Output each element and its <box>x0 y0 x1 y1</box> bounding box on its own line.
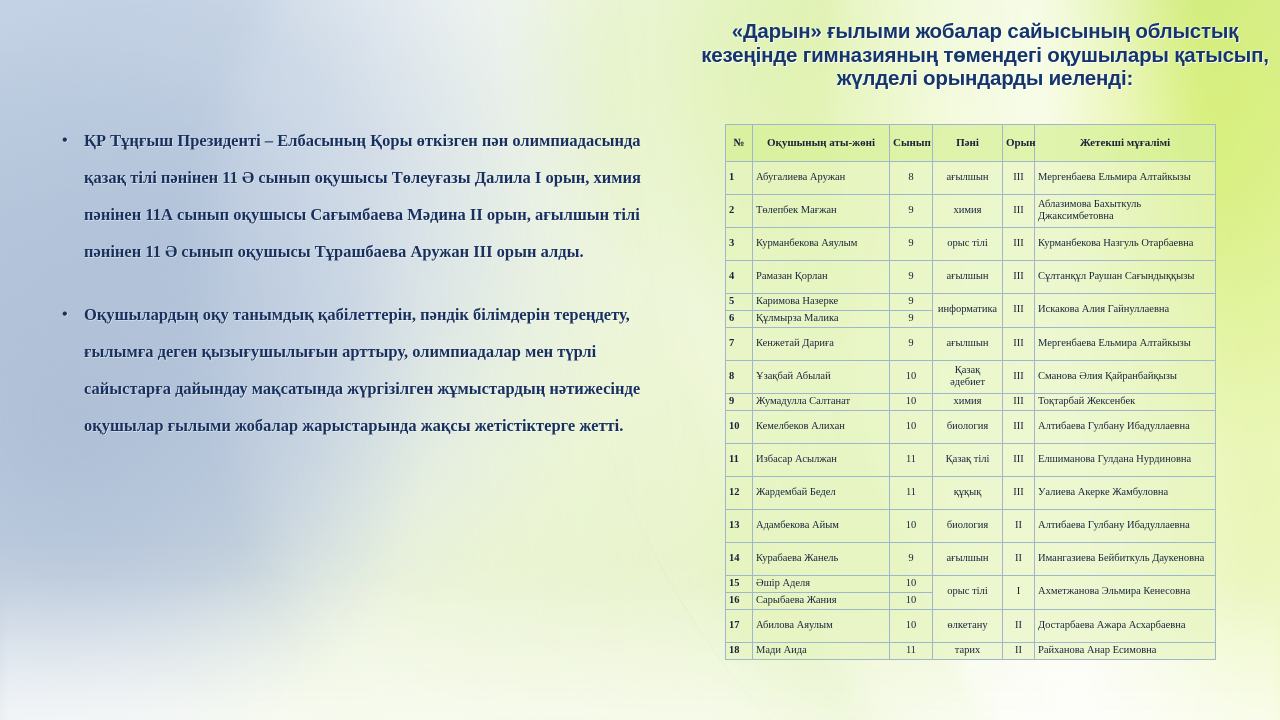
cell-student: Төлепбек Мағжан <box>753 195 890 228</box>
cell-subject: биология <box>933 411 1003 444</box>
cell-number: 3 <box>726 228 753 261</box>
bullet-text: Оқушылардың оқу танымдық қабілеттерін, п… <box>84 296 642 444</box>
cell-subject: Қазақ әдебиет <box>933 361 1003 394</box>
cell-teacher: Сманова Әлия Қайранбайқызы <box>1035 361 1216 394</box>
table-row: 15 Әшір Аделя 10 орыс тілі I Ахметжанова… <box>726 576 1216 593</box>
header-class: Сынып <box>890 125 933 162</box>
cell-teacher: Тоқтарбай Жексенбек <box>1035 394 1216 411</box>
cell-place: III <box>1003 261 1035 294</box>
cell-class: 9 <box>890 195 933 228</box>
cell-subject: құқық <box>933 477 1003 510</box>
bullet-item: • ҚР Тұңғыш Президенті – Елбасының Қоры … <box>62 122 642 270</box>
cell-teacher: Мергенбаева Ельмира Алтайкызы <box>1035 328 1216 361</box>
cell-subject: өлкетану <box>933 610 1003 643</box>
cell-subject: ағылшын <box>933 328 1003 361</box>
cell-place: III <box>1003 328 1035 361</box>
cell-class: 11 <box>890 477 933 510</box>
cell-student: Рамазан Қорлан <box>753 261 890 294</box>
cell-class: 9 <box>890 328 933 361</box>
cell-student: Каримова Назерке <box>753 294 890 311</box>
cell-teacher: Алтибаева Гулбану Ибадуллаевна <box>1035 411 1216 444</box>
cell-class: 10 <box>890 361 933 394</box>
header-subject: Пәні <box>933 125 1003 162</box>
cell-subject: биология <box>933 510 1003 543</box>
cell-place: III <box>1003 477 1035 510</box>
cell-number: 13 <box>726 510 753 543</box>
cell-student: Ұзақбай Абылай <box>753 361 890 394</box>
cell-teacher: Сұлтанқұл Раушан Сағындыққызы <box>1035 261 1216 294</box>
cell-teacher: Имангазиева Бейбиткуль Даукеновна <box>1035 543 1216 576</box>
cell-student: Курабаева Жанель <box>753 543 890 576</box>
cell-student: Курманбекова Аяулым <box>753 228 890 261</box>
table-row: 13 Адамбекова Айым 10 биология II Алтиба… <box>726 510 1216 543</box>
cell-class: 10 <box>890 593 933 610</box>
cell-class: 10 <box>890 411 933 444</box>
cell-class: 10 <box>890 510 933 543</box>
header-teacher: Жетекші мұғалімі <box>1035 125 1216 162</box>
cell-place: III <box>1003 411 1035 444</box>
table-row: 3 Курманбекова Аяулым 9 орыс тілі III Ку… <box>726 228 1216 261</box>
cell-subject: химия <box>933 195 1003 228</box>
cell-student: Абилова Аяулым <box>753 610 890 643</box>
cell-number: 11 <box>726 444 753 477</box>
slide-title: «Дарын» ғылыми жобалар сайысының облысты… <box>700 20 1270 91</box>
cell-number: 1 <box>726 162 753 195</box>
cell-student: Абугалиева Аружан <box>753 162 890 195</box>
cell-class: 10 <box>890 610 933 643</box>
cell-number: 14 <box>726 543 753 576</box>
cell-student: Құлмырза Малика <box>753 311 890 328</box>
cell-place: III <box>1003 444 1035 477</box>
cell-number: 15 <box>726 576 753 593</box>
cell-class: 8 <box>890 162 933 195</box>
cell-number: 18 <box>726 643 753 660</box>
header-number: № <box>726 125 753 162</box>
table-row: 14 Курабаева Жанель 9 ағылшын II Имангаз… <box>726 543 1216 576</box>
cell-place: III <box>1003 294 1035 328</box>
cell-teacher: Ахметжанова Эльмира Кенесовна <box>1035 576 1216 610</box>
cell-subject: ағылшын <box>933 543 1003 576</box>
table-row: 7 Кенжетай Дариға 9 ағылшын III Мергенба… <box>726 328 1216 361</box>
table-body: 1 Абугалиева Аружан 8 ағылшын III Мерген… <box>726 162 1216 660</box>
cell-teacher: Мергенбаева Ельмира Алтайкызы <box>1035 162 1216 195</box>
cell-number: 12 <box>726 477 753 510</box>
cell-subject: ағылшын <box>933 162 1003 195</box>
table-row: 4 Рамазан Қорлан 9 ағылшын III Сұлтанқұл… <box>726 261 1216 294</box>
cell-student: Жардембай Бедел <box>753 477 890 510</box>
cell-class: 9 <box>890 294 933 311</box>
cell-place: II <box>1003 543 1035 576</box>
cell-class: 9 <box>890 311 933 328</box>
table-row: 17 Абилова Аяулым 10 өлкетану II Достарб… <box>726 610 1216 643</box>
cell-place: II <box>1003 510 1035 543</box>
body-text-block: • ҚР Тұңғыш Президенті – Елбасының Қоры … <box>62 122 642 470</box>
table-header-row: № Оқушының аты-жөні Сынып Пәні Орын Жете… <box>726 125 1216 162</box>
cell-place: III <box>1003 361 1035 394</box>
cell-number: 9 <box>726 394 753 411</box>
bullet-item: • Оқушылардың оқу танымдық қабілеттерін,… <box>62 296 642 444</box>
cell-class: 9 <box>890 228 933 261</box>
cell-student: Адамбекова Айым <box>753 510 890 543</box>
cell-subject: химия <box>933 394 1003 411</box>
cell-number: 10 <box>726 411 753 444</box>
cell-place: II <box>1003 643 1035 660</box>
cell-number: 6 <box>726 311 753 328</box>
cell-number: 7 <box>726 328 753 361</box>
cell-place: I <box>1003 576 1035 610</box>
table-row: 11 Избасар Асылжан 11 Қазақ тілі III Елш… <box>726 444 1216 477</box>
cell-student: Жумадулла Салтанат <box>753 394 890 411</box>
cell-student: Мади Аида <box>753 643 890 660</box>
table-row: 8 Ұзақбай Абылай 10 Қазақ әдебиет III См… <box>726 361 1216 394</box>
cell-subject: орыс тілі <box>933 228 1003 261</box>
cell-teacher: Искакова Алия Гайнуллаевна <box>1035 294 1216 328</box>
cell-class: 11 <box>890 444 933 477</box>
cell-number: 8 <box>726 361 753 394</box>
table-row: 12 Жардембай Бедел 11 құқық III Уалиева … <box>726 477 1216 510</box>
header-student: Оқушының аты-жөні <box>753 125 890 162</box>
table-row: 9 Жумадулла Салтанат 10 химия III Тоқтар… <box>726 394 1216 411</box>
cell-student: Сарыбаева Жания <box>753 593 890 610</box>
table-row: 1 Абугалиева Аружан 8 ағылшын III Мерген… <box>726 162 1216 195</box>
results-table: № Оқушының аты-жөні Сынып Пәні Орын Жете… <box>725 124 1216 660</box>
cell-class: 9 <box>890 261 933 294</box>
cell-number: 2 <box>726 195 753 228</box>
cell-teacher: Алтибаева Гулбану Ибадуллаевна <box>1035 510 1216 543</box>
cell-place: II <box>1003 610 1035 643</box>
table-row: 5 Каримова Назерке 9 информатика III Иск… <box>726 294 1216 311</box>
cell-number: 17 <box>726 610 753 643</box>
cell-teacher: Курманбекова Назгуль Отарбаевна <box>1035 228 1216 261</box>
cell-number: 16 <box>726 593 753 610</box>
table-row: 18 Мади Аида 11 тарих II Райханова Анар … <box>726 643 1216 660</box>
table-row: 2 Төлепбек Мағжан 9 химия III Аблазимова… <box>726 195 1216 228</box>
cell-number: 4 <box>726 261 753 294</box>
cell-teacher: Достарбаева Ажара Асхарбаевна <box>1035 610 1216 643</box>
cell-subject: Қазақ тілі <box>933 444 1003 477</box>
bullet-dot-icon: • <box>62 122 84 270</box>
cell-student: Кенжетай Дариға <box>753 328 890 361</box>
cell-subject: ағылшын <box>933 261 1003 294</box>
cell-number: 5 <box>726 294 753 311</box>
header-place: Орын <box>1003 125 1035 162</box>
cell-place: III <box>1003 394 1035 411</box>
cell-subject: тарих <box>933 643 1003 660</box>
results-table-wrapper: № Оқушының аты-жөні Сынып Пәні Орын Жете… <box>725 124 1215 660</box>
cell-teacher: Уалиева Акерке Жамбуловна <box>1035 477 1216 510</box>
bullet-dot-icon: • <box>62 296 84 444</box>
cell-subject: орыс тілі <box>933 576 1003 610</box>
cell-place: III <box>1003 195 1035 228</box>
cell-class: 9 <box>890 543 933 576</box>
cell-teacher: Аблазимова Бахыткуль Джаксимбетовна <box>1035 195 1216 228</box>
table-row: 10 Кемелбеков Алихан 10 биология III Алт… <box>726 411 1216 444</box>
cell-teacher: Райханова Анар Есимовна <box>1035 643 1216 660</box>
cell-teacher: Елшиманова Гулдана Нурдиновна <box>1035 444 1216 477</box>
cell-place: III <box>1003 228 1035 261</box>
cell-place: III <box>1003 162 1035 195</box>
cell-student: Избасар Асылжан <box>753 444 890 477</box>
cell-student: Әшір Аделя <box>753 576 890 593</box>
cell-class: 11 <box>890 643 933 660</box>
cell-subject: информатика <box>933 294 1003 328</box>
bullet-text: ҚР Тұңғыш Президенті – Елбасының Қоры өт… <box>84 122 642 270</box>
cell-class: 10 <box>890 576 933 593</box>
cell-class: 10 <box>890 394 933 411</box>
cell-student: Кемелбеков Алихан <box>753 411 890 444</box>
